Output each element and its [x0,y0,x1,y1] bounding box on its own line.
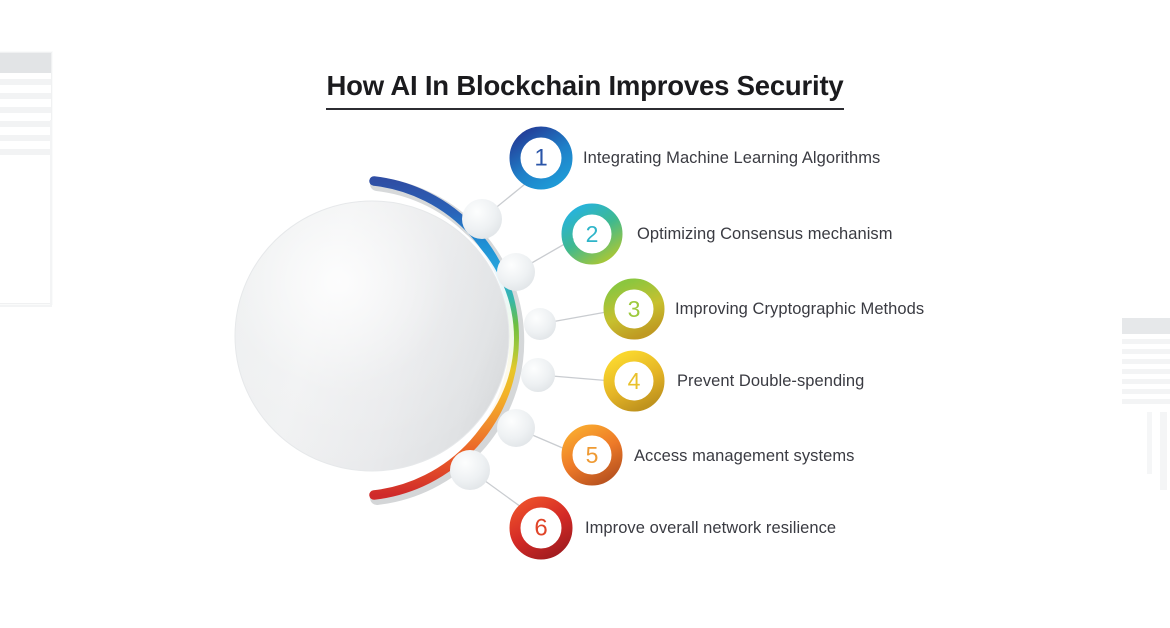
item-label-2: Optimizing Consensus mechanism [637,226,893,243]
arc-node-1 [462,199,502,239]
arc-node-5 [497,409,535,447]
item-marker-2[interactable]: 2 [567,209,617,259]
item-marker-1[interactable]: 1 [515,132,567,184]
item-label-1: Integrating Machine Learning Algorithms [583,150,880,167]
infographic-canvas: How AI In Blockchain Improves Security [0,0,1170,628]
item-marker-5[interactable]: 5 [567,430,617,480]
arc-node-4 [521,358,555,392]
item-number-2: 2 [586,221,599,247]
item-number-6: 6 [534,515,547,542]
item-number-4: 4 [628,368,641,394]
item-marker-6[interactable]: 6 [515,502,567,554]
item-number-1: 1 [534,145,547,172]
item-number-5: 5 [586,442,599,468]
item-label-5: Access management systems [634,448,854,465]
blockchain-sphere [234,200,514,476]
arc-node-6 [450,450,490,490]
arc-node-2 [497,253,535,291]
item-number-3: 3 [628,296,641,322]
item-marker-3[interactable]: 3 [609,284,659,334]
arc-node-3 [524,308,556,340]
item-label-6: Improve overall network resilience [585,520,836,537]
numbered-rings: 1 2 3 4 5 [515,132,659,554]
item-marker-4[interactable]: 4 [609,356,659,406]
item-label-3: Improving Cryptographic Methods [675,301,924,318]
item-label-4: Prevent Double-spending [677,373,864,390]
